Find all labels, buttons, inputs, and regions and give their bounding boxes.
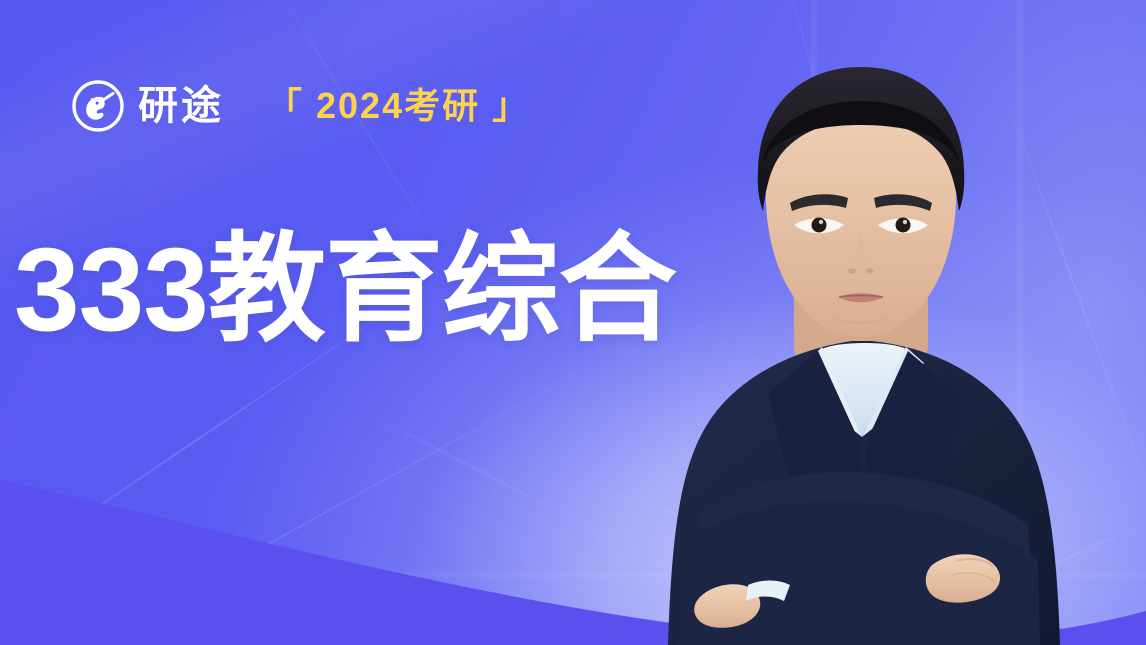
brand-name: 研途 — [138, 86, 224, 126]
background-bottom-wave — [0, 435, 1146, 645]
brand-tagline: 「 2024考研 」 — [266, 88, 530, 124]
page-title: 333教育综合 — [14, 226, 676, 356]
brand-row: 研途 「 2024考研 」 — [72, 80, 530, 132]
unicorn-in-circle-icon — [72, 80, 124, 132]
course-banner: 研途 「 2024考研 」 333教育综合 — [0, 0, 1146, 645]
